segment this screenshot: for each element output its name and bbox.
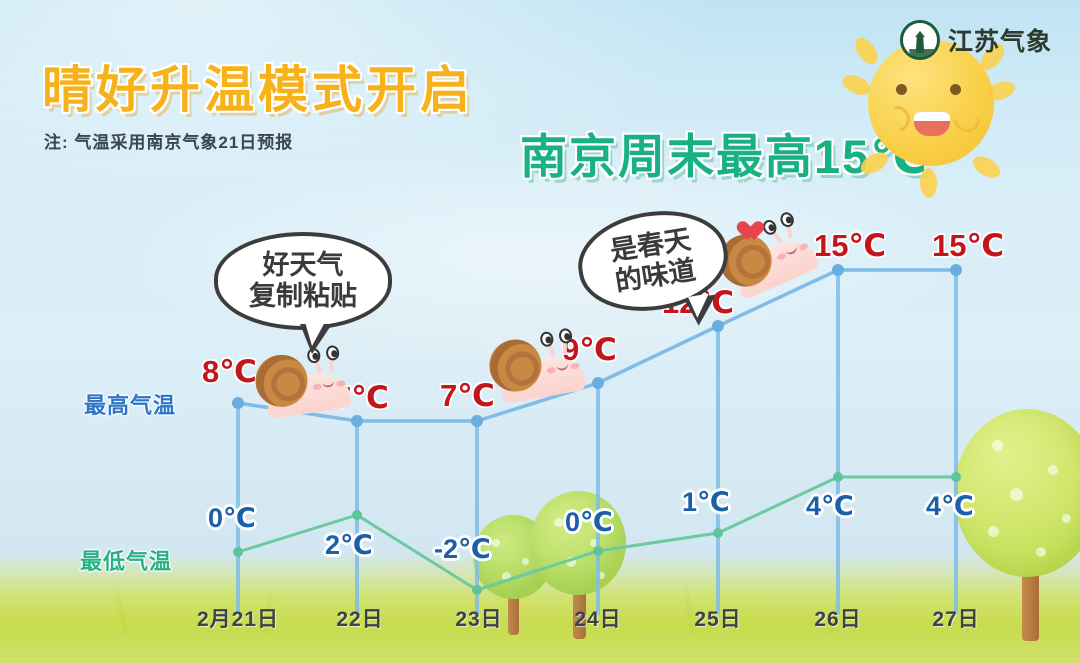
data-point-low bbox=[713, 528, 723, 538]
snail-mascot bbox=[252, 346, 352, 420]
low-temp-value: -2℃ bbox=[434, 534, 491, 565]
low-temp-value: 0℃ bbox=[208, 503, 256, 534]
x-axis-tick-label: 2月21日 bbox=[197, 603, 279, 633]
x-axis-tick-label: 24日 bbox=[574, 603, 621, 633]
data-point-high bbox=[950, 264, 962, 276]
data-point-high bbox=[232, 397, 244, 409]
low-temp-value: 4℃ bbox=[806, 491, 854, 522]
data-point-low bbox=[833, 472, 843, 482]
data-point-low bbox=[951, 472, 961, 482]
x-axis-tick-label: 25日 bbox=[694, 603, 741, 633]
low-temp-value: 4℃ bbox=[926, 491, 974, 522]
data-point-low bbox=[233, 547, 243, 557]
x-axis-tick-label: 26日 bbox=[814, 603, 861, 633]
data-point-high bbox=[832, 264, 844, 276]
low-temp-value: 2℃ bbox=[325, 530, 373, 561]
x-axis-tick-label: 23日 bbox=[455, 603, 502, 633]
snail-eye-icon bbox=[558, 327, 573, 344]
legend-low-temp: 最低气温 bbox=[80, 544, 172, 576]
data-point-high bbox=[471, 415, 483, 427]
legend-high-temp: 最高气温 bbox=[84, 388, 176, 420]
data-point-high bbox=[592, 377, 604, 389]
heart-icon bbox=[742, 222, 764, 242]
high-temp-value: 15℃ bbox=[932, 228, 1004, 264]
speech-bubble: 好天气 复制粘贴 bbox=[214, 232, 392, 330]
x-axis-tick-label: 22日 bbox=[336, 603, 383, 633]
high-temp-value: 7℃ bbox=[440, 378, 495, 414]
data-point-high bbox=[351, 415, 363, 427]
x-axis-tick-label: 27日 bbox=[932, 603, 979, 633]
snail-eye-icon bbox=[539, 331, 554, 348]
data-point-low bbox=[593, 546, 603, 556]
data-point-low bbox=[352, 510, 362, 520]
low-temp-value: 1℃ bbox=[682, 487, 730, 518]
low-temp-value: 0℃ bbox=[565, 507, 613, 538]
high-temp-value: 15℃ bbox=[814, 228, 886, 264]
data-point-low bbox=[472, 585, 482, 595]
high-temp-value: 8℃ bbox=[202, 354, 257, 390]
temperature-chart: 最高气温 最低气温 8℃ 7℃ 7℃ 9℃ 12℃ 15℃ 15℃ 0℃ 2℃ … bbox=[0, 0, 1080, 663]
